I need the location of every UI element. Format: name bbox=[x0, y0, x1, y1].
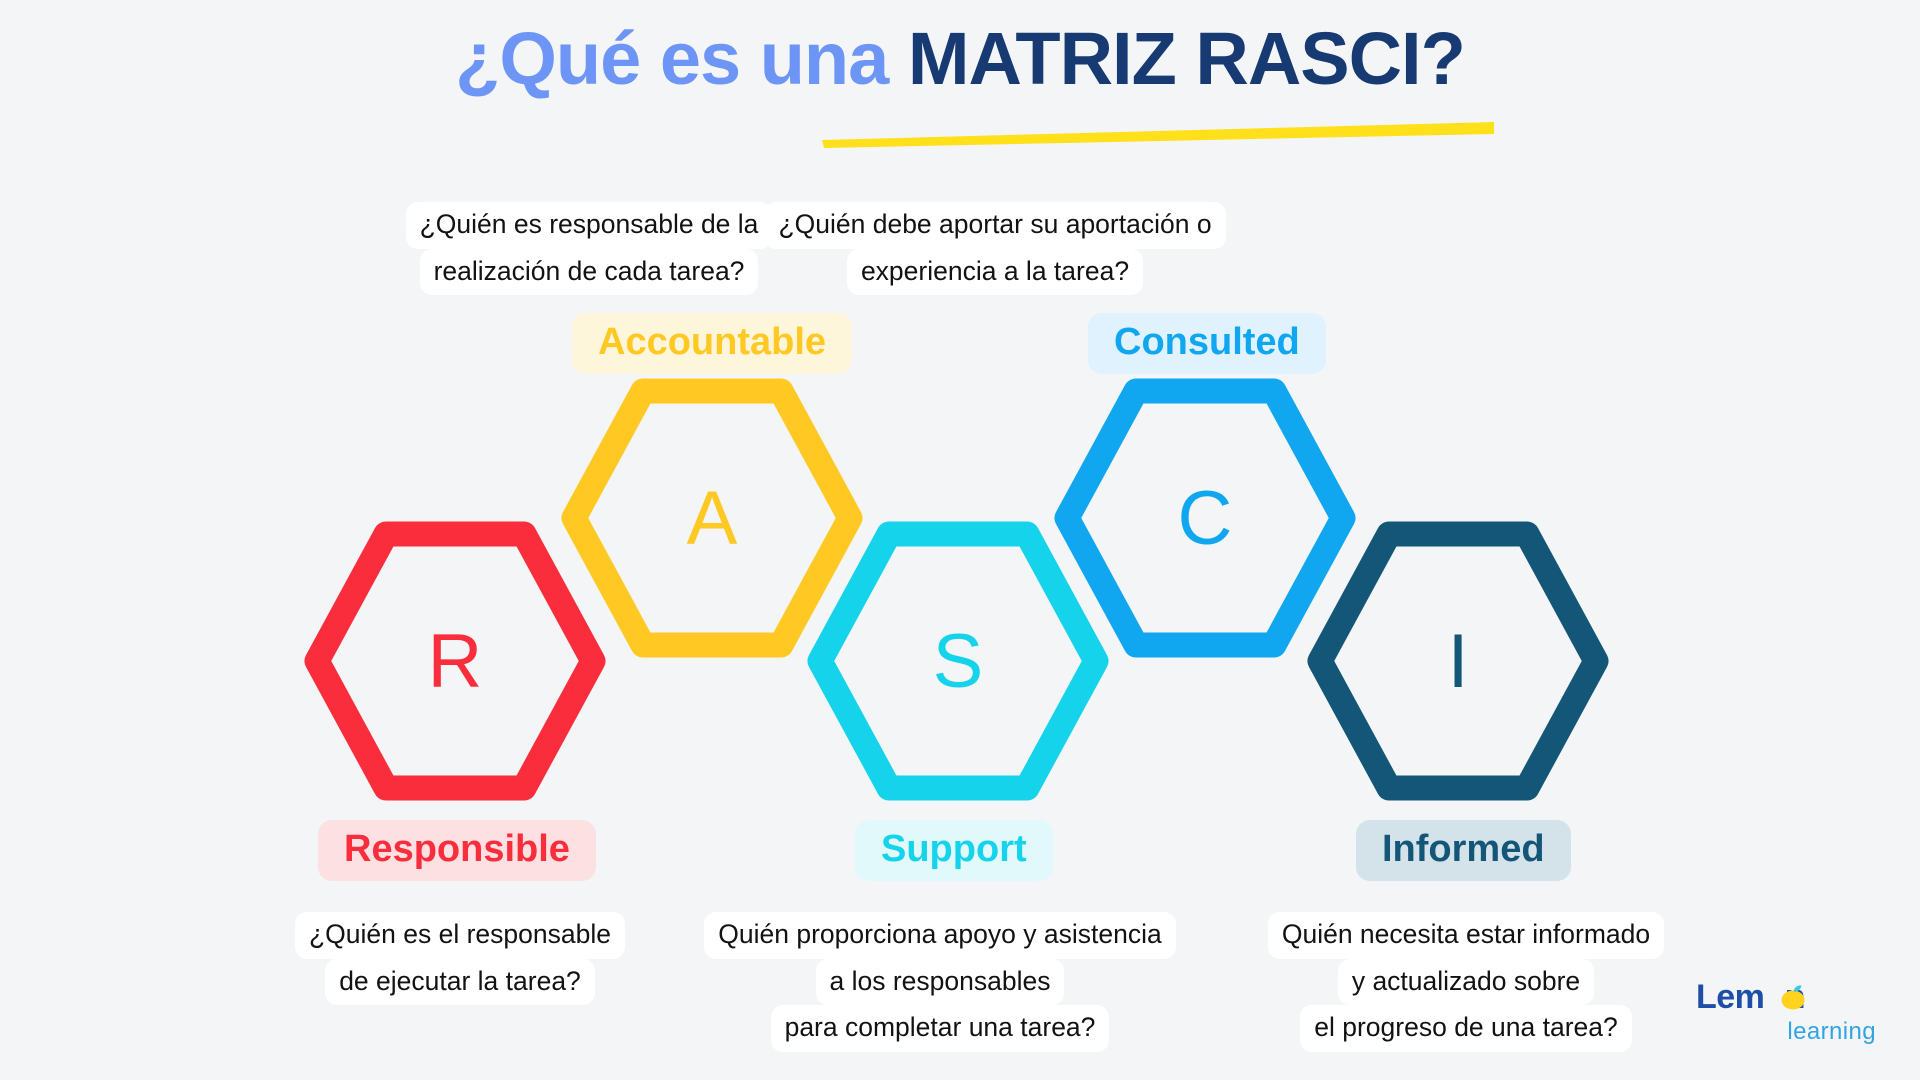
lemon-icon bbox=[1778, 984, 1808, 1010]
callout-line: Quién necesita estar informado bbox=[1268, 912, 1664, 959]
hexagon-support: S bbox=[813, 528, 1103, 794]
callout-line: ¿Quién es el responsable bbox=[295, 912, 625, 959]
pill-informed: Informed bbox=[1356, 820, 1571, 881]
callout-line: el progreso de una tarea? bbox=[1300, 1005, 1632, 1052]
callout-line: y actualizado sobre bbox=[1338, 959, 1594, 1006]
pill-consulted: Consulted bbox=[1088, 313, 1326, 374]
hexagon-consulted: C bbox=[1060, 385, 1350, 651]
pill-responsible: Responsible bbox=[318, 820, 596, 881]
brand-logo[interactable]: Lemon learning bbox=[1696, 978, 1876, 1052]
logo-name-head: Lem bbox=[1696, 978, 1764, 1016]
callout-line: Quién proporciona apoyo y asistencia bbox=[704, 912, 1175, 959]
pill-support: Support bbox=[855, 820, 1053, 881]
callout-responsible: ¿Quién es el responsable de ejecutar la … bbox=[285, 912, 635, 1005]
callout-accountable: ¿Quién es responsable de la realización … bbox=[424, 202, 754, 295]
callout-line: realización de cada tarea? bbox=[420, 249, 759, 296]
title-underline-swoosh bbox=[822, 122, 1494, 148]
infographic-canvas: ¿Qué es una MATRIZ RASCI? ¿Quién es resp… bbox=[0, 0, 1920, 1080]
callout-consulted: ¿Quién debe aportar su aportación o expe… bbox=[778, 202, 1212, 295]
hexagon-informed: I bbox=[1313, 528, 1603, 794]
callout-support: Quién proporciona apoyo y asistencia a l… bbox=[690, 912, 1190, 1052]
title-light-part: ¿Qué es una bbox=[455, 17, 908, 100]
hexagon-responsible: R bbox=[310, 528, 600, 794]
callout-line: experiencia a la tarea? bbox=[847, 249, 1143, 296]
callout-line: ¿Quién debe aportar su aportación o bbox=[764, 202, 1225, 249]
callout-line: ¿Quién es responsable de la bbox=[406, 202, 773, 249]
callout-line: a los responsables bbox=[816, 959, 1065, 1006]
callout-informed: Quién necesita estar informado y actuali… bbox=[1245, 912, 1687, 1052]
callout-line: de ejecutar la tarea? bbox=[325, 959, 595, 1006]
logo-subtitle: learning bbox=[1787, 1018, 1876, 1046]
title-dark-part: MATRIZ RASCI? bbox=[908, 17, 1465, 100]
page-title: ¿Qué es una MATRIZ RASCI? bbox=[0, 22, 1920, 96]
pill-accountable: Accountable bbox=[572, 313, 852, 374]
callout-line: para completar una tarea? bbox=[771, 1005, 1110, 1052]
title-block: ¿Qué es una MATRIZ RASCI? bbox=[0, 22, 1920, 96]
